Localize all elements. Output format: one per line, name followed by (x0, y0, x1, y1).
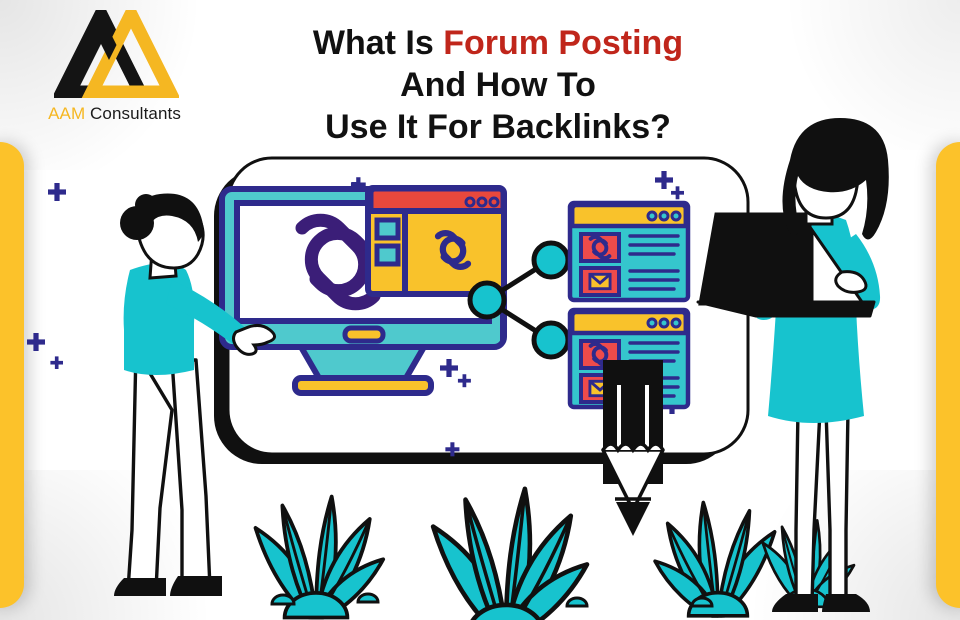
pencil-icon (603, 360, 663, 536)
page-title-line-2: And How To (238, 64, 758, 106)
forum-post-card-1 (570, 203, 688, 300)
page-title-highlight: Forum Posting (443, 24, 683, 62)
page-title-line-1-prefix: What Is (313, 24, 443, 62)
aam-double-triangle-logo-icon (54, 10, 179, 98)
foliage-plants (256, 489, 854, 620)
poster-canvas: AAM Consultants What Is Forum Posting An… (0, 0, 960, 620)
forum-posting-backlinks-illustration (0, 110, 960, 620)
page-title-line-1: What Is Forum Posting (238, 22, 758, 64)
window-dots (466, 198, 498, 206)
